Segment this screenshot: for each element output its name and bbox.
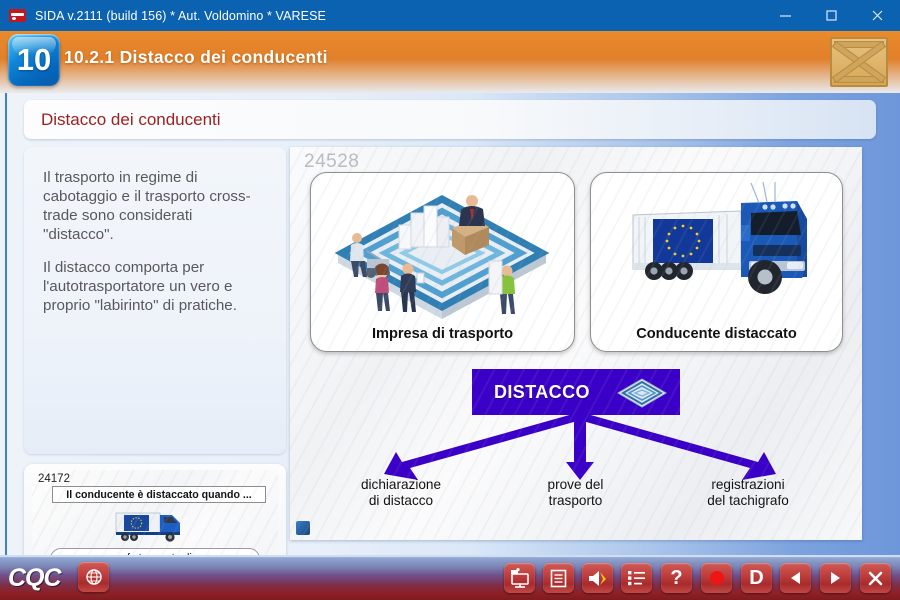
- close-icon[interactable]: [860, 563, 891, 593]
- explanation-paragraph-1: Il trasporto in regime di cabotaggio e i…: [43, 168, 267, 245]
- branch-line-2b: trasporto: [498, 493, 653, 509]
- branch-line-1b: di distacco: [316, 493, 486, 509]
- next-icon[interactable]: [820, 563, 851, 593]
- branch-line-1a: dichiarazione: [316, 477, 486, 493]
- branch-label-prove: prove del trasporto: [498, 477, 653, 510]
- record-icon[interactable]: [701, 563, 732, 593]
- explanation-paragraph-2: Il distacco comporta per l'autotrasporta…: [43, 258, 267, 315]
- distacco-node: DISTACCO: [472, 369, 680, 415]
- chapter-number-badge: 10: [8, 34, 60, 86]
- document-icon[interactable]: [543, 563, 574, 593]
- card-conducente-distaccato[interactable]: Conducente distaccato: [590, 172, 843, 352]
- branch-label-registrazioni: registrazioni del tachigrafo: [658, 477, 838, 510]
- crate-icon: [830, 37, 888, 87]
- explanation-card: Il trasporto in regime di cabotaggio e i…: [24, 147, 286, 454]
- page-title: 10.2.1 Distacco dei conducenti: [64, 47, 328, 68]
- presentation-icon[interactable]: [504, 563, 535, 593]
- letter-d-icon[interactable]: D: [741, 563, 772, 593]
- truck-icon: [114, 506, 200, 546]
- slide-thumb-icon: [296, 521, 310, 535]
- letter-d-glyph: D: [749, 568, 763, 588]
- window-controls: [762, 0, 900, 31]
- maximize-icon[interactable]: [808, 0, 854, 31]
- card-impresa-di-trasporto[interactable]: Impresa di trasporto: [310, 172, 575, 352]
- window-title-bar: SIDA v.2111 (build 156) * Aut. Voldomino…: [0, 0, 900, 31]
- isometric-maze-warehouse-icon: [311, 173, 574, 323]
- distacco-label: DISTACCO: [494, 382, 590, 403]
- globe-icon[interactable]: [78, 562, 109, 592]
- main-panel-id: 24528: [304, 151, 359, 173]
- close-icon[interactable]: [854, 0, 900, 31]
- chapter-header: 10 10.2.1 Distacco dei conducenti: [0, 31, 900, 93]
- slide-thumbnail-id: 24172: [38, 473, 70, 485]
- section-title-banner: Distacco dei conducenti: [24, 100, 876, 139]
- section-title: Distacco dei conducenti: [41, 110, 221, 130]
- slide-thumbnail-headline: Il conducente è distaccato quando ...: [52, 486, 266, 503]
- page-body: Distacco dei conducenti Il trasporto in …: [0, 93, 900, 555]
- card-caption-conducente: Conducente distaccato: [591, 326, 842, 342]
- branch-label-dichiarazione: dichiarazione di distacco: [316, 477, 486, 510]
- audio-icon[interactable]: [582, 563, 613, 593]
- window-title: SIDA v.2111 (build 156) * Aut. Voldomino…: [35, 9, 326, 23]
- list-icon[interactable]: [621, 563, 652, 593]
- help-glyph: ?: [670, 568, 682, 588]
- main-illustration-panel: 24528: [290, 147, 862, 540]
- left-accent-rule: [5, 93, 7, 555]
- branch-line-3a: registrazioni: [658, 477, 838, 493]
- toolbar-divider: [0, 555, 900, 557]
- maze-icon: [616, 377, 668, 409]
- card-caption-impresa: Impresa di trasporto: [311, 326, 574, 342]
- truck-icon: [9, 9, 26, 22]
- branch-line-2a: prove del: [498, 477, 653, 493]
- application-window: SIDA v.2111 (build 156) * Aut. Voldomino…: [0, 0, 900, 600]
- blue-truck-eu-icon: [591, 173, 842, 323]
- diagram-arrows: [350, 412, 810, 482]
- help-icon[interactable]: ?: [661, 563, 692, 593]
- branch-line-3b: del tachigrafo: [658, 493, 838, 509]
- brand-logo: CQC: [8, 564, 61, 593]
- minimize-icon[interactable]: [762, 0, 808, 31]
- previous-icon[interactable]: [780, 563, 811, 593]
